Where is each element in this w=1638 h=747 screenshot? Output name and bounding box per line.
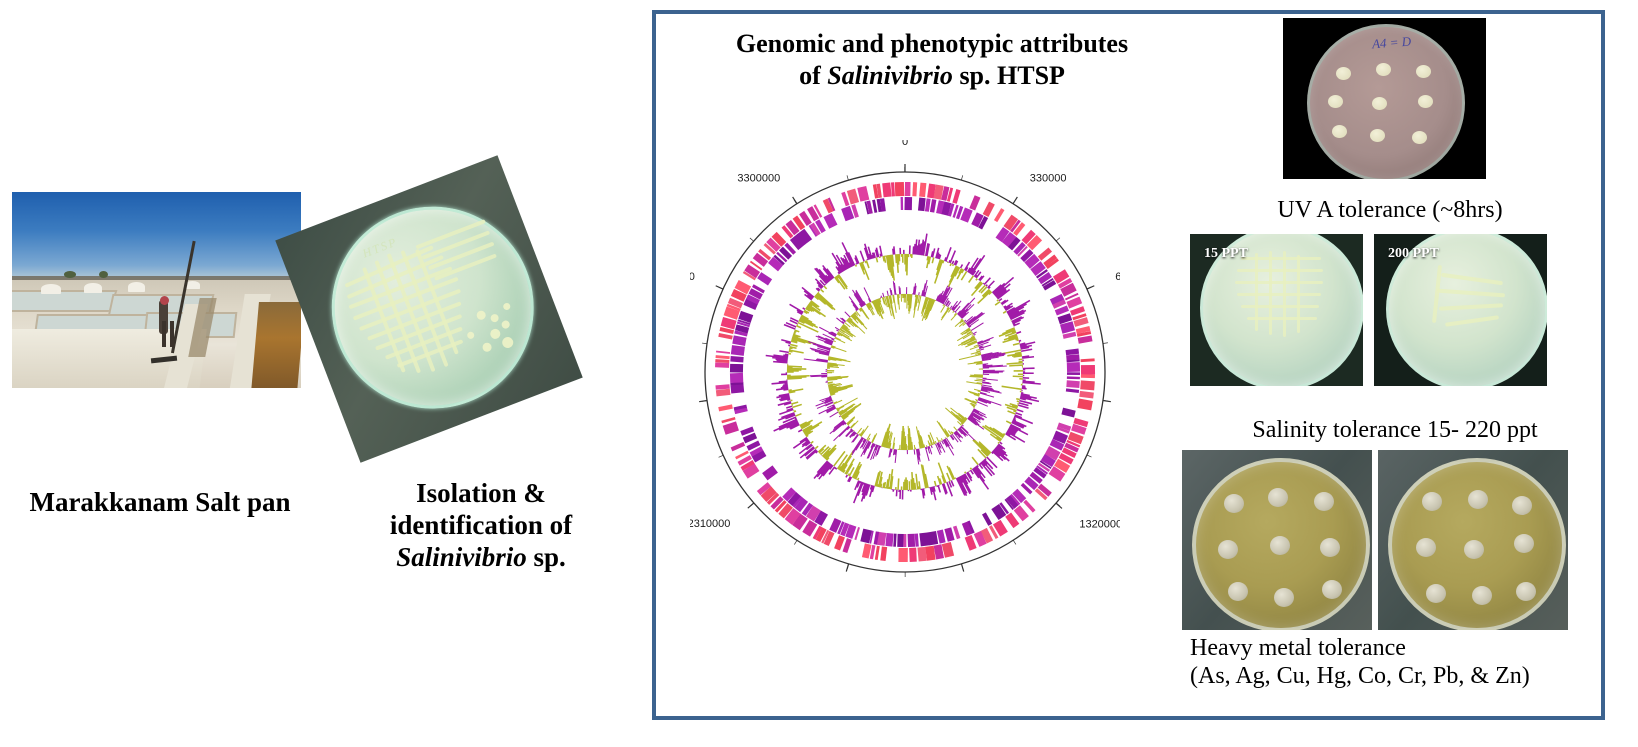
heavy-metal-caption-line2: (As, Ag, Cu, Hg, Co, Cr, Pb, & Zn): [1190, 662, 1620, 690]
gc-skew-ring: [804, 280, 1007, 464]
svg-text:1980000: 1980000: [797, 589, 840, 590]
colony-spot: [1328, 95, 1343, 108]
isolation-caption-line2: identification of: [336, 510, 626, 542]
isolation-caption-line3: Salinivibrio sp.: [336, 542, 626, 574]
svg-text:2310000: 2310000: [690, 518, 730, 530]
tilted-photo-frame: HTSP: [275, 155, 582, 462]
genus-name: Salinivibrio: [396, 542, 527, 572]
colony-spot: [1372, 97, 1387, 110]
metal-disc: [1464, 540, 1484, 559]
salt-bed: [12, 290, 118, 312]
species-suffix: sp.: [527, 542, 566, 572]
colony-spot: [1376, 63, 1391, 76]
isolation-plate-photo: HTSP: [296, 176, 562, 442]
svg-text:660000: 660000: [1115, 271, 1120, 283]
metal-disc: [1322, 580, 1342, 599]
agar-plate: [1388, 458, 1566, 630]
metal-disc: [1512, 496, 1532, 515]
svg-text:1650000: 1650000: [970, 589, 1013, 590]
metal-disc: [1270, 536, 1290, 555]
svg-text:3300000: 3300000: [737, 173, 780, 185]
metal-disc: [1426, 584, 1446, 603]
page-title: Genomic and phenotypic attributes of Sal…: [672, 28, 1192, 91]
genome-tick-marks: [699, 164, 1111, 577]
salt-mound: [41, 284, 61, 294]
genome-map-svg: 0330000660000990000132000016500001980000…: [690, 140, 1120, 590]
heavy-metal-caption: Heavy metal tolerance (As, Ag, Cu, Hg, C…: [1190, 634, 1620, 691]
isolation-caption: Isolation & identification of Salinivibr…: [336, 478, 626, 574]
genome-axis-circle: [705, 172, 1105, 572]
salt-pan-photo: [12, 192, 301, 388]
metal-disc: [1416, 538, 1436, 557]
metal-disc: [1228, 582, 1248, 601]
salinity-left-label: 15 PPT: [1204, 246, 1248, 262]
circular-genome-map: 0330000660000990000132000016500001980000…: [690, 140, 1120, 590]
svg-text:0: 0: [902, 140, 908, 148]
colony-spot: [1370, 129, 1385, 142]
metal-disc: [1468, 490, 1488, 509]
salinity-right-label: 200 PPT: [1388, 246, 1439, 262]
metal-disc: [1218, 540, 1238, 559]
heavy-metal-caption-line1: Heavy metal tolerance: [1190, 634, 1620, 662]
heavy-metal-plate-left: [1182, 450, 1372, 630]
heavy-metal-plate-right: [1378, 450, 1568, 630]
uv-agar-plate: A4 = D: [1307, 24, 1465, 179]
uv-tolerance-caption: UV A tolerance (~8hrs): [1190, 196, 1590, 224]
metal-disc: [1268, 488, 1288, 507]
metal-disc: [1274, 588, 1294, 607]
worker-leg: [170, 321, 174, 347]
title-strain: sp. HTSP: [953, 61, 1065, 90]
plate-ink-label: A4 = D: [1371, 34, 1411, 53]
panel-title-line1: Genomic and phenotypic attributes: [672, 28, 1192, 60]
reverse-cds-ring: [730, 197, 1080, 547]
brine-channel: [251, 302, 301, 388]
metal-disc: [1224, 494, 1244, 513]
svg-text:330000: 330000: [1030, 173, 1067, 185]
agar-plate: HTSP: [302, 177, 563, 438]
salt-pan-caption: Marakkanam Salt pan: [0, 487, 320, 519]
salinity-plate-200ppt: 200 PPT: [1374, 234, 1547, 386]
salt-mound: [84, 283, 101, 293]
forward-cds-ring: [715, 182, 1095, 562]
title-prefix: of: [799, 61, 827, 90]
svg-text:1320000: 1320000: [1079, 519, 1120, 531]
salt-mound: [128, 282, 145, 292]
agar-plate: [1192, 458, 1370, 630]
metal-disc: [1472, 586, 1492, 605]
metal-disc: [1516, 582, 1536, 601]
colony-spot: [1418, 95, 1433, 108]
colony-spot: [1332, 125, 1347, 138]
worker-leg: [162, 321, 166, 347]
colony-spot: [1416, 65, 1431, 78]
svg-text:2970000: 2970000: [690, 271, 695, 283]
uv-tolerance-photo: A4 = D: [1283, 18, 1486, 179]
metal-disc: [1422, 492, 1442, 511]
title-genus: Salinivibrio: [827, 61, 953, 90]
metal-disc: [1314, 492, 1334, 511]
salinity-plate-15ppt: 15 PPT: [1190, 234, 1363, 386]
isolation-caption-line1: Isolation &: [336, 478, 626, 510]
metal-disc: [1320, 538, 1340, 557]
colony-spot: [1412, 131, 1427, 144]
salinity-tolerance-caption: Salinity tolerance 15- 220 ppt: [1190, 416, 1600, 444]
panel-title-line2: of Salinivibrio sp. HTSP: [672, 60, 1192, 92]
colony-spot: [1336, 67, 1351, 80]
gc-content-ring: [766, 234, 1041, 503]
sky-region: [12, 192, 301, 278]
metal-disc: [1514, 534, 1534, 553]
